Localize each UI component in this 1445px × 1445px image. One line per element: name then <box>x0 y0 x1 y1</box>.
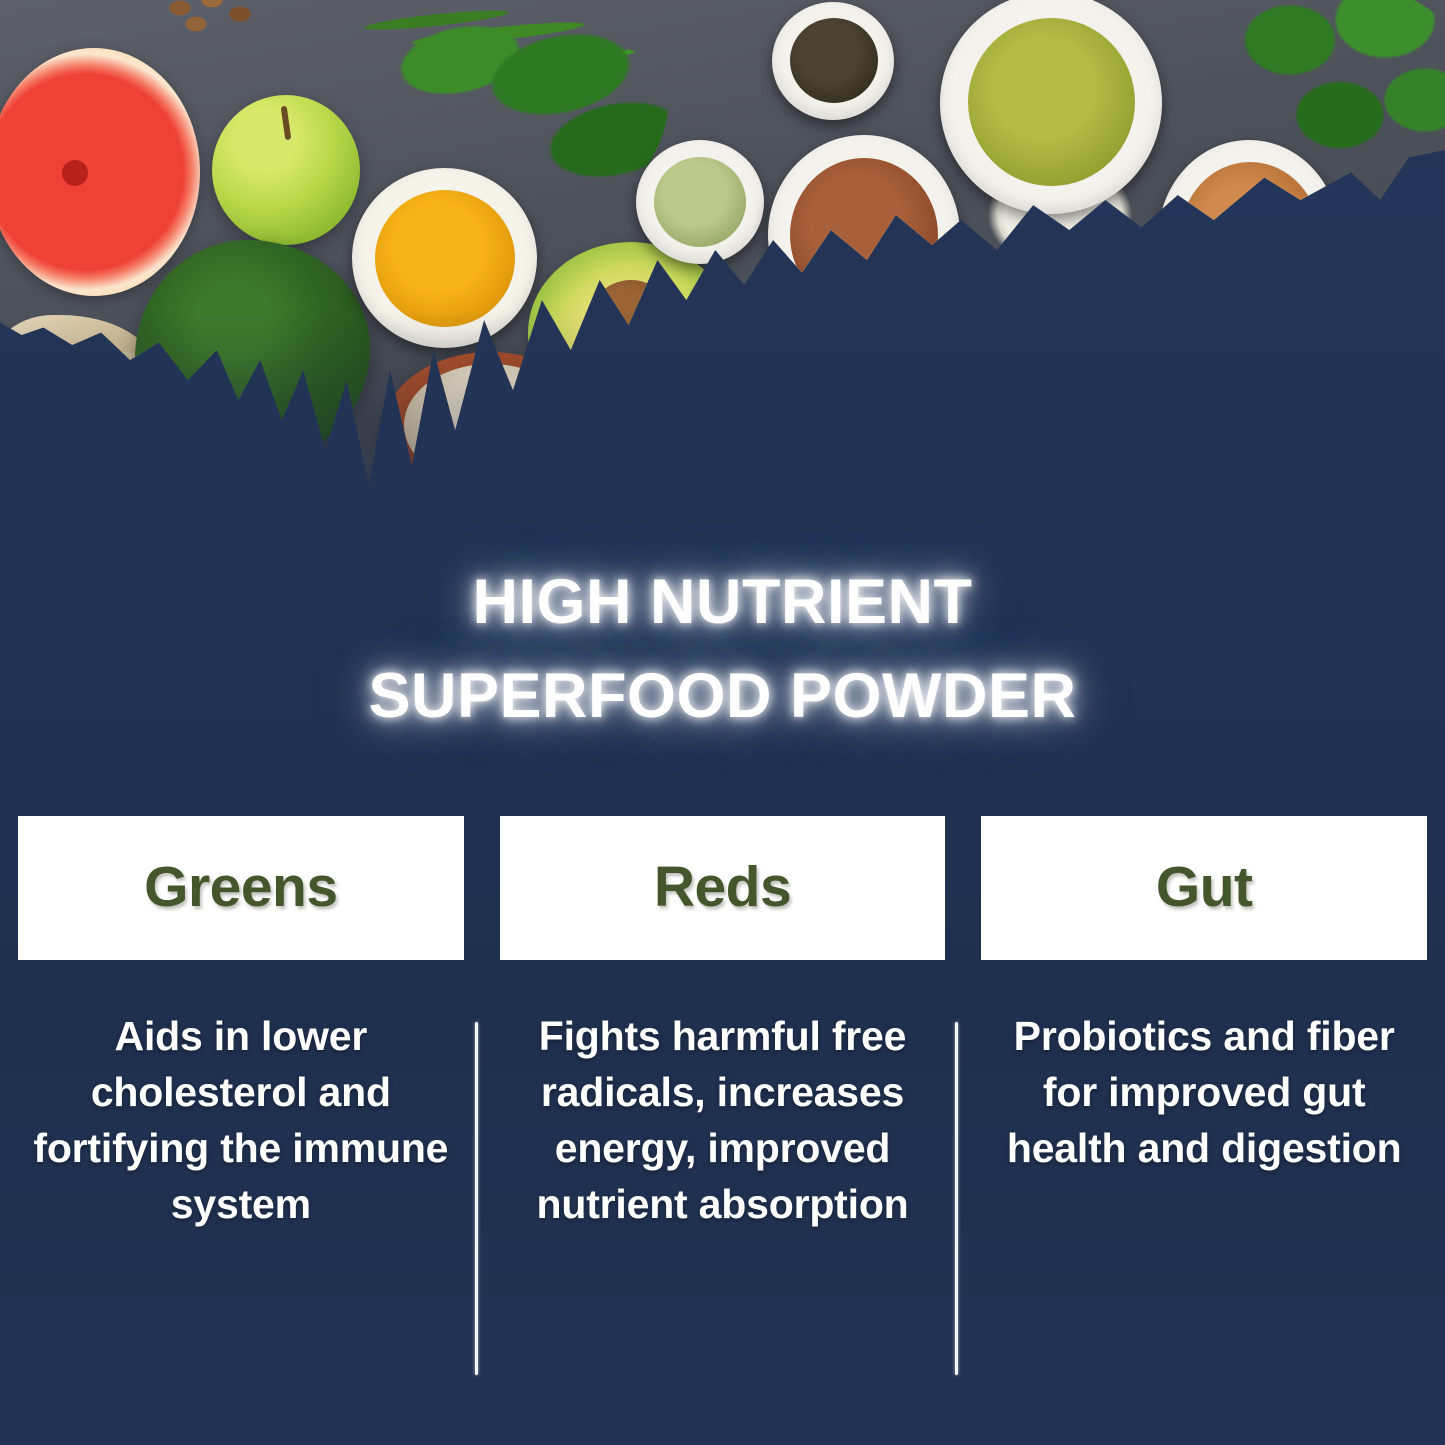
blueberries <box>962 275 1124 437</box>
benefit-columns: Aids in lower cholesterol and fortifying… <box>0 1008 1445 1408</box>
photo-surface <box>0 0 1445 500</box>
superfood-photo-band <box>0 0 1445 500</box>
benefit-text-reds: Fights harmful free radicals, increases … <box>506 1008 940 1232</box>
benefit-column-greens: Aids in lower cholesterol and fortifying… <box>0 1008 482 1408</box>
column-divider-right <box>955 1022 958 1375</box>
title-line-1: HIGH NUTRIENT <box>0 555 1445 649</box>
oat-flakes <box>404 364 576 486</box>
benefit-column-gut: Probiotics and fiber for improved gut he… <box>963 1008 1445 1408</box>
brussels-sprouts <box>762 248 867 348</box>
category-label-reds: Reds <box>654 854 791 920</box>
title-line-2: SUPERFOOD POWDER <box>0 649 1445 743</box>
ginger-root-2 <box>52 352 172 450</box>
category-banner-reds: Reds <box>482 812 964 962</box>
column-divider-left <box>475 1022 478 1375</box>
benefit-column-reds: Fights harmful free radicals, increases … <box>482 1008 964 1408</box>
category-label-gut: Gut <box>1156 854 1253 920</box>
category-banner-gut: Gut <box>963 812 1445 962</box>
benefit-text-greens: Aids in lower cholesterol and fortifying… <box>24 1008 458 1232</box>
benefit-text-gut: Probiotics and fiber for improved gut he… <box>987 1008 1421 1176</box>
category-banner-row: Greens Reds Gut <box>0 812 1445 962</box>
pomegranate <box>1178 312 1383 462</box>
wheat-grains-bowl <box>1352 188 1445 383</box>
category-label-greens: Greens <box>144 854 337 920</box>
photo-vignette <box>0 0 1445 500</box>
category-banner-greens: Greens <box>0 812 482 962</box>
blueberries-bowl <box>935 248 1150 463</box>
brussels-sprouts-2 <box>790 355 902 460</box>
wheat-grains <box>1372 210 1445 360</box>
product-infographic-poster: HIGH NUTRIENT SUPERFOOD POWDER Greens Re… <box>0 0 1445 1445</box>
page-title: HIGH NUTRIENT SUPERFOOD POWDER <box>0 555 1445 743</box>
